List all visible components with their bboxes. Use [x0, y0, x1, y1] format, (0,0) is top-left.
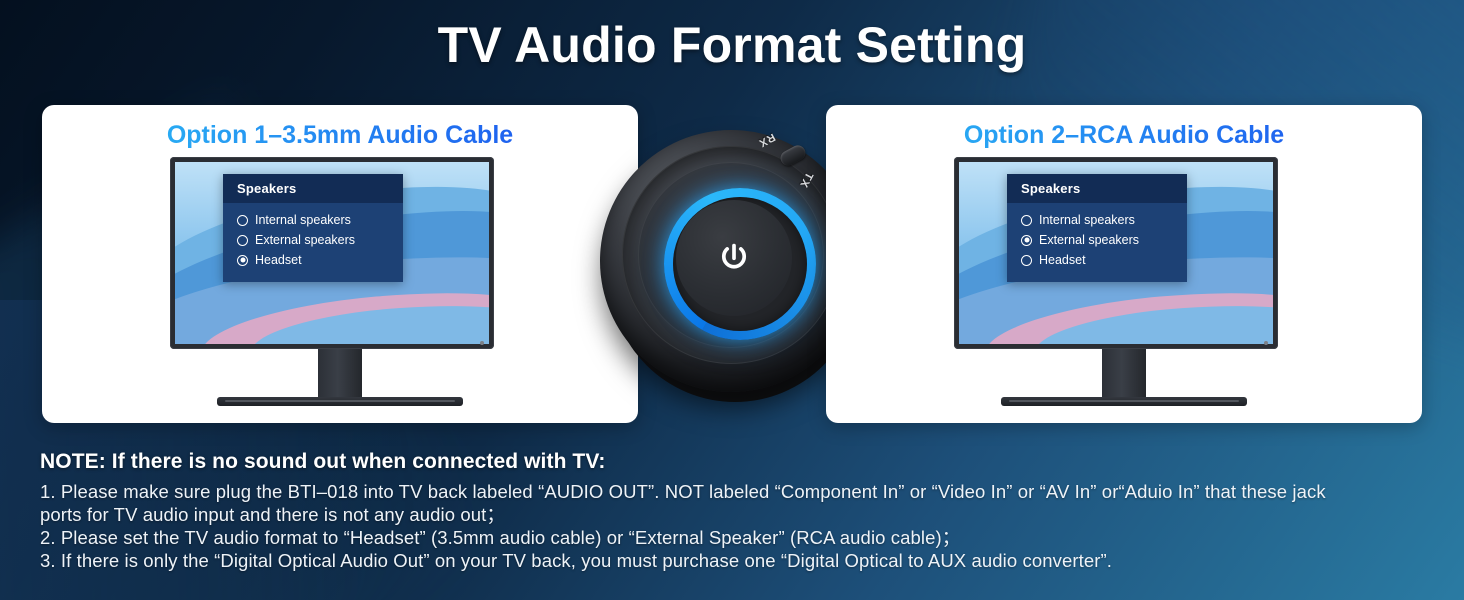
- note-line: 1. Please make sure plug the BTI–018 int…: [40, 480, 1430, 503]
- note-line: 3. If there is only the “Digital Optical…: [40, 549, 1430, 572]
- monitor-stand-neck: [318, 349, 362, 401]
- radio-label: External speakers: [255, 233, 355, 247]
- radio-option-headset[interactable]: Headset: [1007, 250, 1187, 270]
- power-icon: [717, 241, 751, 275]
- dialog-title: Speakers: [1007, 174, 1187, 203]
- note-line: ports for TV audio input and there is no…: [40, 503, 1430, 526]
- note-title: NOTE: If there is no sound out when conn…: [40, 450, 1430, 474]
- radio-icon[interactable]: [237, 235, 248, 246]
- monitor-power-led: [480, 341, 484, 345]
- dialog-title: Speakers: [223, 174, 403, 203]
- radio-label: Internal speakers: [255, 213, 351, 227]
- radio-label: Internal speakers: [1039, 213, 1135, 227]
- monitor-stand-base: [217, 397, 463, 406]
- radio-option-internal-speakers[interactable]: Internal speakers: [223, 210, 403, 230]
- speakers-dialog-1[interactable]: Speakers Internal speakers External spea…: [223, 174, 403, 282]
- monitor-stand-neck: [1102, 349, 1146, 401]
- monitor-screen: Speakers Internal speakers External spea…: [175, 162, 489, 344]
- monitor-screen: Speakers Internal speakers External spea…: [959, 162, 1273, 344]
- radio-label: Headset: [255, 253, 302, 267]
- promo-banner: TV Audio Format Setting Option 1–3.5mm A…: [0, 0, 1464, 600]
- radio-icon[interactable]: [1021, 215, 1032, 226]
- radio-icon-selected[interactable]: [237, 255, 248, 266]
- note-line: 2. Please set the TV audio format to “He…: [40, 526, 1430, 549]
- radio-option-external-speakers[interactable]: External speakers: [1007, 230, 1187, 250]
- radio-icon[interactable]: [237, 215, 248, 226]
- monitor-power-led: [1264, 341, 1268, 345]
- radio-option-external-speakers[interactable]: External speakers: [223, 230, 403, 250]
- radio-icon[interactable]: [1021, 255, 1032, 266]
- option-card-2: Option 2–RCA Audio Cable Speakers Intern…: [826, 105, 1422, 423]
- monitor-bezel: Speakers Internal speakers External spea…: [170, 157, 494, 349]
- radio-option-headset[interactable]: Headset: [223, 250, 403, 270]
- tv-monitor-2: Speakers Internal speakers External spea…: [954, 157, 1294, 407]
- page-title: TV Audio Format Setting: [0, 16, 1464, 74]
- radio-option-internal-speakers[interactable]: Internal speakers: [1007, 210, 1187, 230]
- radio-label: Headset: [1039, 253, 1086, 267]
- dialog-options-list: Internal speakers External speakers Head…: [1007, 203, 1187, 282]
- monitor-stand-base: [1001, 397, 1247, 406]
- power-button[interactable]: [676, 200, 792, 316]
- option-1-heading: Option 1–3.5mm Audio Cable: [42, 121, 638, 150]
- speakers-dialog-2[interactable]: Speakers Internal speakers External spea…: [1007, 174, 1187, 282]
- monitor-bezel: Speakers Internal speakers External spea…: [954, 157, 1278, 349]
- radio-label: External speakers: [1039, 233, 1139, 247]
- option-2-heading: Option 2–RCA Audio Cable: [826, 121, 1422, 150]
- tv-monitor-1: Speakers Internal speakers External spea…: [170, 157, 510, 407]
- note-block: NOTE: If there is no sound out when conn…: [40, 450, 1430, 572]
- note-lines: 1. Please make sure plug the BTI–018 int…: [40, 480, 1430, 572]
- dialog-options-list: Internal speakers External speakers Head…: [223, 203, 403, 282]
- radio-icon-selected[interactable]: [1021, 235, 1032, 246]
- option-card-1: Option 1–3.5mm Audio Cable Speakers Inte…: [42, 105, 638, 423]
